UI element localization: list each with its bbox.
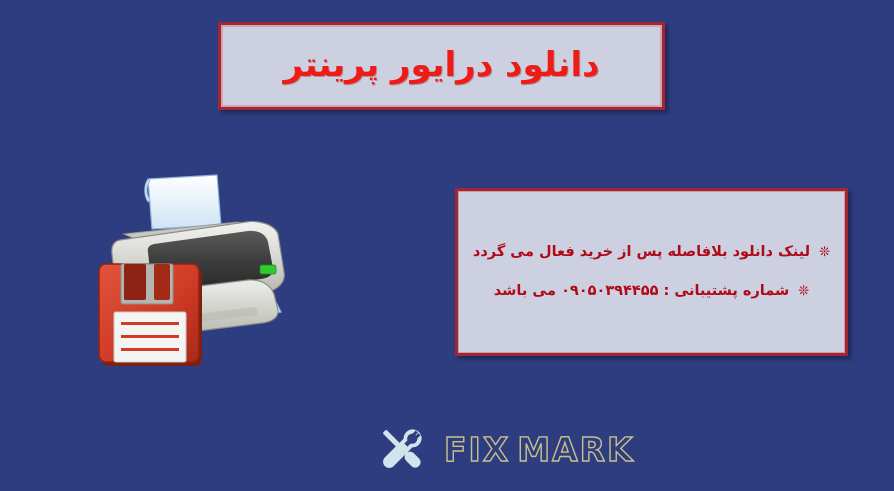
info-line-support-phone: ❊ شماره پشتیبانی : ۰۹۰۵۰۳۹۴۴۵۵ می باشد: [494, 283, 809, 300]
info-panel: ❊ لینک دانلود بلافاصله پس از خرید فعال م…: [455, 188, 848, 356]
title-banner: دانلود درایور پرینتر: [218, 22, 665, 110]
info-line-support-phone-text: شماره پشتیبانی : ۰۹۰۵۰۳۹۴۴۵۵ می باشد: [494, 283, 789, 299]
logo-word-fix: FIX: [444, 430, 510, 469]
asterisk-icon: ❊: [819, 245, 830, 260]
page-title: دانلود درایور پرینتر: [283, 47, 599, 84]
info-line-download-activation: ❊ لینک دانلود بلافاصله پس از خرید فعال م…: [473, 244, 830, 261]
printer-illustration: [88, 172, 318, 368]
logo-word-mark: MARK: [517, 430, 634, 469]
slide-canvas: دانلود درایور پرینتر: [0, 0, 894, 491]
logo-wordmark: FIX MARK: [444, 430, 635, 469]
asterisk-icon: ❊: [798, 284, 809, 299]
info-line-download-activation-text: لینک دانلود بلافاصله پس از خرید فعال می …: [473, 244, 810, 260]
brand-logo: FIX MARK: [372, 418, 572, 480]
wrench-screwdriver-icon: [372, 421, 432, 477]
